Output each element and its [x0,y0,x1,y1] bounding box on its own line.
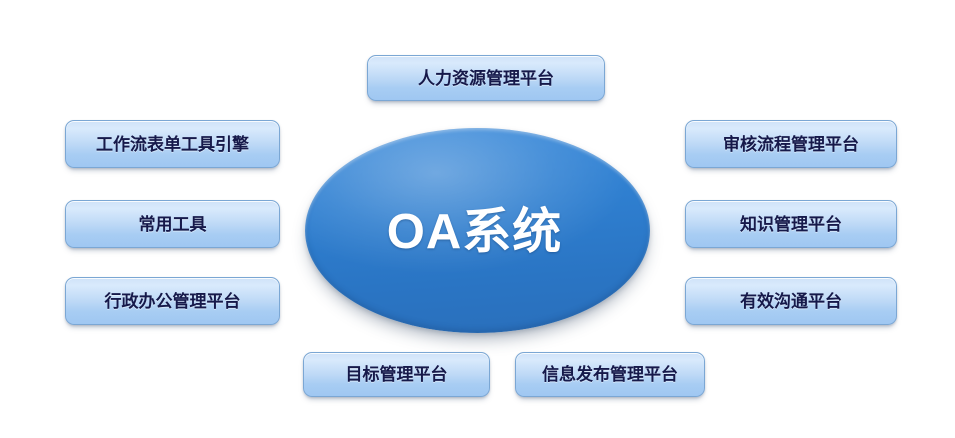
node-approval-process-platform[interactable]: 审核流程管理平台 [685,120,897,168]
node-label: 人力资源管理平台 [418,70,554,87]
node-label: 行政办公管理平台 [105,293,241,310]
node-label: 常用工具 [139,216,207,233]
node-label: 工作流表单工具引擎 [96,136,249,153]
center-node-label: OA系统 [387,208,563,257]
node-goal-management-platform[interactable]: 目标管理平台 [303,352,490,397]
node-label: 目标管理平台 [346,366,448,383]
node-information-publishing-platform[interactable]: 信息发布管理平台 [515,352,705,397]
node-label: 有效沟通平台 [740,293,842,310]
node-label: 审核流程管理平台 [723,136,859,153]
node-label: 知识管理平台 [740,216,842,233]
node-common-tools[interactable]: 常用工具 [65,200,280,248]
node-effective-communication-platform[interactable]: 有效沟通平台 [685,277,897,325]
node-human-resource-platform[interactable]: 人力资源管理平台 [367,55,605,101]
node-label: 信息发布管理平台 [542,366,678,383]
node-workflow-form-tool-engine[interactable]: 工作流表单工具引擎 [65,120,280,168]
oa-system-diagram: OA系统 人力资源管理平台 工作流表单工具引擎 常用工具 行政办公管理平台 审核… [0,0,955,438]
center-node-oa-system[interactable]: OA系统 [305,128,650,333]
node-knowledge-management-platform[interactable]: 知识管理平台 [685,200,897,248]
node-administrative-office-platform[interactable]: 行政办公管理平台 [65,277,280,325]
